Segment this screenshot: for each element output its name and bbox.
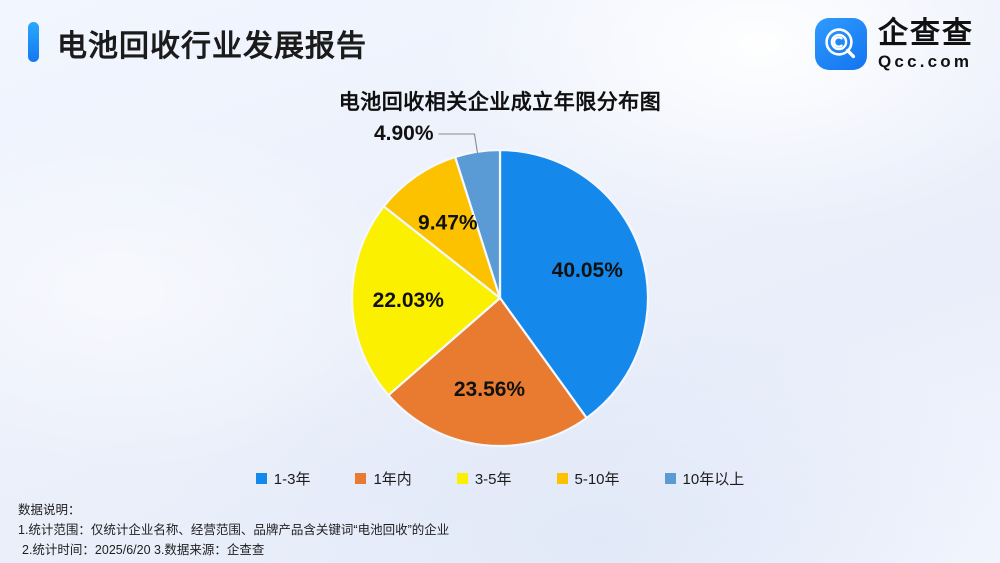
pie-leader-line <box>439 134 478 153</box>
logo-name-cn: 企查查 <box>878 19 974 49</box>
chart-title: 电池回收相关企业成立年限分布图 <box>0 86 1000 116</box>
qcc-logo-icon <box>815 18 867 70</box>
pie-slice-label: 22.03% <box>373 289 445 312</box>
pie-slice-label: 4.90% <box>374 122 434 145</box>
legend-swatch-icon <box>355 473 366 484</box>
footer-heading: 数据说明： <box>18 500 718 520</box>
legend-swatch-icon <box>256 473 267 484</box>
legend-label: 10年以上 <box>683 468 745 489</box>
legend-swatch-icon <box>665 473 676 484</box>
pie-chart: 40.05%23.56%22.03%9.47%4.90% <box>0 118 1000 458</box>
page-title: 电池回收行业发展报告 <box>57 21 367 65</box>
legend-item[interactable]: 10年以上 <box>665 468 745 489</box>
legend-label: 1-3年 <box>274 468 311 489</box>
legend-item[interactable]: 1-3年 <box>256 468 311 489</box>
logo-name-en: Qcc.com <box>878 53 974 70</box>
header: 电池回收行业发展报告 企查查 Qcc.com <box>0 0 1000 84</box>
pie-leader-lines <box>439 134 478 153</box>
chart-legend: 1-3年1年内3-5年5-10年10年以上 <box>0 468 1000 489</box>
brand-logo[interactable]: 企查查 Qcc.com <box>815 18 974 70</box>
legend-swatch-icon <box>457 473 468 484</box>
logo-text: 企查查 Qcc.com <box>878 19 974 70</box>
pie-slice-label: 9.47% <box>418 212 478 235</box>
legend-item[interactable]: 5-10年 <box>557 468 620 489</box>
legend-label: 3-5年 <box>475 468 512 489</box>
pie-slice-label: 23.56% <box>454 378 526 401</box>
legend-label: 1年内 <box>373 468 411 489</box>
legend-label: 5-10年 <box>575 468 620 489</box>
title-accent-bar <box>28 22 39 62</box>
legend-item[interactable]: 3-5年 <box>457 468 512 489</box>
footer-note-scope: 1.统计范围：仅统计企业名称、经营范围、品牌产品含关键词“电池回收”的企业 <box>18 520 718 540</box>
footer-note-time-source: 2.统计时间：2025/6/20 3.数据来源：企查查 <box>18 540 718 560</box>
infographic-page: 电池回收行业发展报告 企查查 Qcc.com 电池回收相关企业成立年限分布图 4… <box>0 0 1000 563</box>
footer-notes: 数据说明： 1.统计范围：仅统计企业名称、经营范围、品牌产品含关键词“电池回收”… <box>18 500 718 560</box>
pie-slice-label: 40.05% <box>552 259 624 282</box>
legend-item[interactable]: 1年内 <box>355 468 411 489</box>
legend-swatch-icon <box>557 473 568 484</box>
